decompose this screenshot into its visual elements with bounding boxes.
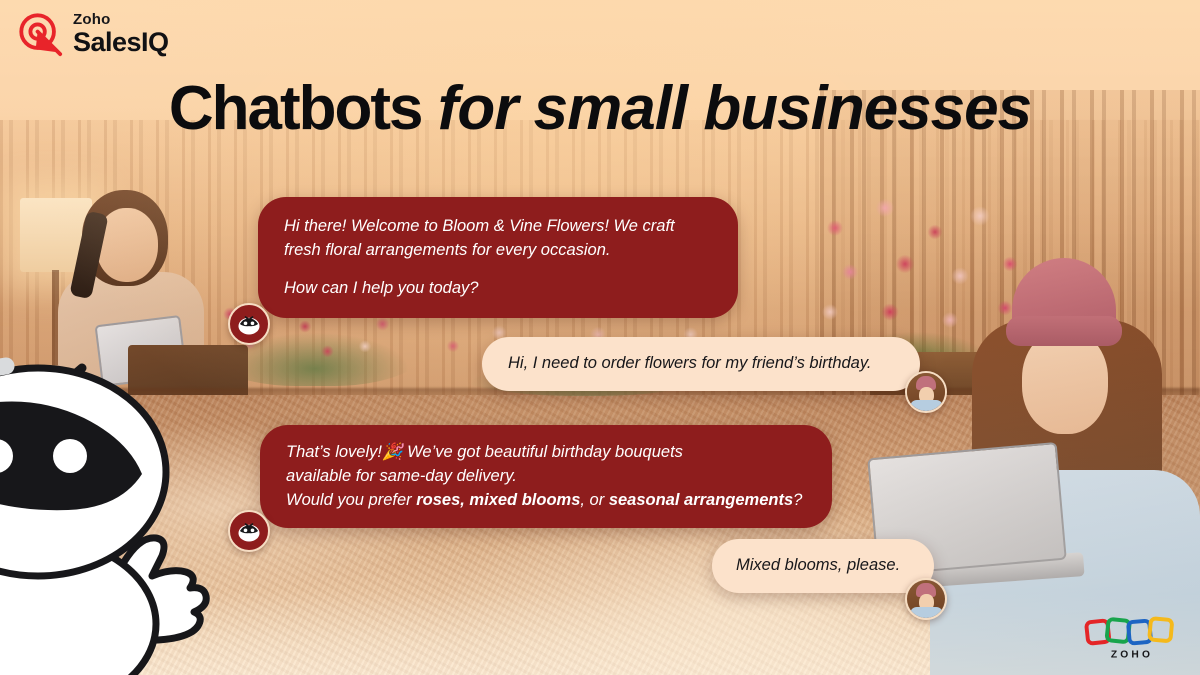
visitor-avatar-icon [907,580,945,618]
bouquet-option-2: seasonal arrangements [609,491,793,509]
bouquet-option-1: roses, mixed blooms [416,491,580,509]
logo-product-text: SalesIQ [73,29,169,56]
chatbot-avatar[interactable] [228,303,270,345]
zoho-corporate-logo[interactable]: ZOHO [1084,612,1180,664]
bubble-line: Would you prefer [286,491,416,509]
visitor-avatar[interactable] [905,578,947,620]
bubble-line: That’s lovely! [286,443,382,461]
party-popper-icon: 🎉 [382,443,403,461]
bubble-line: Hi there! Welcome to Bloom & Vine Flower… [284,217,675,235]
bubble-line: Mixed blooms, please. [736,556,900,574]
chatbot-avatar-icon [235,310,263,338]
zoho-wordmark: ZOHO [1111,650,1153,661]
page-title: Chatbots for small businesses [0,78,1200,140]
bubble-line: Hi, I need to order flowers for my frien… [508,354,871,372]
visitor-avatar-icon [907,373,945,411]
visitor-avatar-collar [910,400,943,411]
bubble-line: , or [580,491,608,509]
logo-zoho-text: Zoho [73,12,169,27]
bubble-line-gap [284,263,712,277]
banner-stage: Zoho SalesIQ Chatbots for small business… [0,0,1200,675]
bubble-line: How can I help you today? [284,279,478,297]
chat-bubble-user-order-request[interactable]: Hi, I need to order flowers for my frien… [482,337,920,391]
zoho-salesiq-logo-icon [16,10,64,58]
page-title-italic: for small businesses [422,74,1032,143]
visitor-avatar-collar [910,607,943,618]
bubble-line: ? [793,491,802,509]
zoho-zia-robot-mascot-icon [0,352,254,675]
visitor-avatar[interactable] [905,371,947,413]
chat-bubble-user-choice[interactable]: Mixed blooms, please. [712,539,934,593]
page-title-bold: Chatbots [169,74,422,143]
zoho-corporate-logo-icon [1086,618,1172,644]
zoho-salesiq-logo[interactable]: Zoho SalesIQ [16,10,169,58]
bubble-line: We’ve got beautiful birthday bouquets [403,443,683,461]
bubble-line: fresh floral arrangements for every occa… [284,241,610,259]
chat-bubble-bot-bouquet-options[interactable]: That’s lovely!🎉 We’ve got beautiful birt… [260,425,832,528]
chat-bubble-bot-greeting[interactable]: Hi there! Welcome to Bloom & Vine Flower… [258,197,738,318]
bubble-line: available for same-day delivery. [286,467,517,485]
